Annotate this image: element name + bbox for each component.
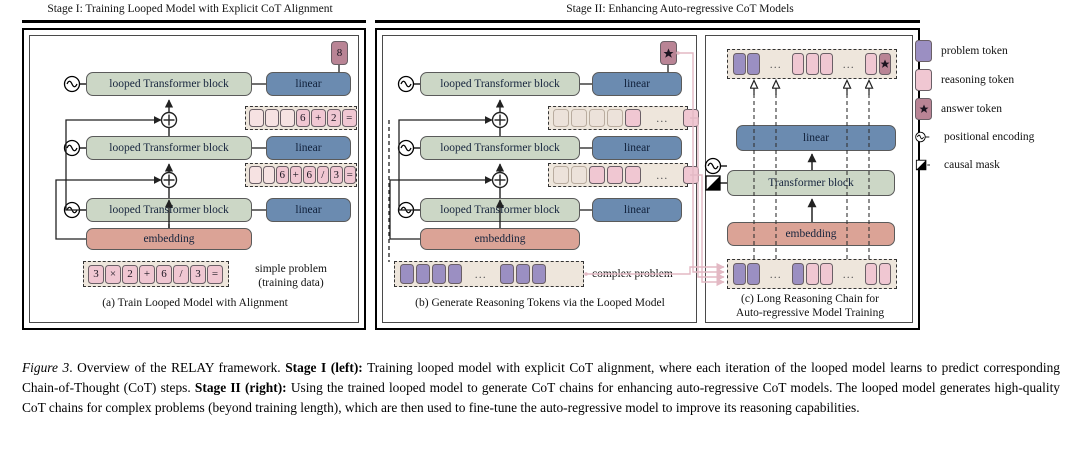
token-ellipsis: … (464, 264, 498, 284)
answer-token-icon (915, 98, 932, 120)
stage2-rule (375, 20, 920, 23)
panel-b-cot-row-mid: … (548, 163, 688, 187)
token-pale (249, 109, 264, 127)
panel-a-embedding: embedding (86, 228, 252, 250)
token-reasoning: + (139, 265, 155, 284)
legend-item-positional-encoding: positional encoding (915, 127, 1034, 147)
token-reasoning: 3 (190, 265, 206, 284)
panel-b-looped-block-2: looped Transformer block (420, 136, 580, 160)
token-reasoning (607, 166, 623, 184)
stage1-title: Stage I: Training Looped Model with Expl… (20, 3, 360, 15)
token-reasoning: 6 (276, 166, 289, 184)
panel-c-output-sequence: …… (727, 49, 897, 79)
token-reasoning (792, 53, 805, 75)
panel-c-input-sequence: …… (727, 259, 897, 289)
panel-a-answer-token: 8 (331, 41, 348, 65)
panel-a-input-label-line2: (training data) (258, 277, 323, 289)
panel-b-linear-3: linear (592, 72, 682, 96)
token-reasoning (683, 166, 699, 184)
panel-b-input-label: complex problem (592, 267, 702, 281)
panel-a-input-label: simple problem (training data) (236, 262, 346, 291)
token-reasoning (879, 263, 892, 285)
token-reasoning: = (342, 109, 357, 127)
legend-label-answer-token: answer token (941, 103, 1002, 115)
panel-a-linear-1: linear (266, 198, 351, 222)
token-reasoning (820, 263, 833, 285)
token-reasoning: 6 (303, 166, 316, 184)
token-pale (249, 166, 262, 184)
token-reasoning: = (207, 265, 223, 284)
panel-a-cot-row-mid: 6+6/3= (245, 163, 357, 187)
token-blank (553, 109, 569, 127)
token-problem (448, 264, 462, 284)
token-problem (747, 53, 760, 75)
caption-b1: Stage I (left): (285, 360, 363, 375)
token-answer (879, 53, 892, 75)
stage1-rule (22, 20, 366, 23)
panel-a-linear-2: linear (266, 136, 351, 160)
token-problem (532, 264, 546, 284)
token-reasoning: + (311, 109, 326, 127)
panel-c-caption-line2: Auto-regressive Model Training (736, 307, 884, 319)
token-reasoning: 3 (330, 166, 343, 184)
stage2-title: Stage II: Enhancing Auto-regressive CoT … (520, 3, 840, 15)
token-pale (265, 109, 280, 127)
panel-a-looped-block-1: looped Transformer block (86, 198, 252, 222)
legend-item-reasoning-token: reasoning token (915, 69, 1014, 91)
token-reasoning: 3 (88, 265, 104, 284)
panel-c-transformer-block: Transformer block (727, 170, 895, 196)
panel-b-caption: (b) Generate Reasoning Tokens via the Lo… (386, 296, 694, 310)
token-ellipsis: … (834, 263, 863, 285)
token-ellipsis: … (761, 53, 790, 75)
token-problem (733, 53, 746, 75)
legend-item-problem-token: problem token (915, 40, 1008, 62)
reasoning-token-icon (915, 69, 932, 91)
token-problem (432, 264, 446, 284)
panel-a-caption: (a) Train Looped Model with Alignment (40, 296, 350, 310)
token-pale (280, 109, 295, 127)
panel-b-looped-block-1: looped Transformer block (420, 198, 580, 222)
token-reasoning: / (317, 166, 330, 184)
token-reasoning (625, 166, 641, 184)
token-reasoning: + (290, 166, 303, 184)
token-ellipsis: … (643, 109, 681, 127)
token-blank (571, 166, 587, 184)
figure-root: Stage I: Training Looped Model with Expl… (0, 0, 1080, 473)
panel-a-cot-row-top: 6+2= (245, 106, 357, 130)
positional-encoding-icon (915, 127, 930, 147)
token-reasoning: 2 (327, 109, 342, 127)
panel-a-looped-block-2: looped Transformer block (86, 136, 252, 160)
token-problem (792, 263, 805, 285)
token-problem (400, 264, 414, 284)
figure-label: Figure 3 (22, 360, 69, 375)
panel-c-linear: linear (736, 125, 896, 151)
token-reasoning (806, 263, 819, 285)
problem-token-icon (915, 40, 932, 62)
caption-p1: . Overview of the RELAY framework. (69, 360, 285, 375)
panel-c-caption-line1: (c) Long Reasoning Chain for (741, 293, 879, 305)
token-ellipsis: … (761, 263, 790, 285)
token-problem (733, 263, 746, 285)
token-reasoning: = (344, 166, 357, 184)
token-reasoning: 6 (156, 265, 172, 284)
token-reasoning: × (105, 265, 121, 284)
star-icon (919, 104, 929, 114)
figure-caption: Figure 3. Overview of the RELAY framewor… (22, 358, 1060, 418)
panel-a-linear-3: linear (266, 72, 351, 96)
token-reasoning (589, 166, 605, 184)
token-reasoning: / (173, 265, 189, 284)
panel-b-answer-token (660, 41, 677, 65)
token-reasoning: 2 (122, 265, 138, 284)
panel-b-embedding: embedding (420, 228, 580, 250)
panel-c-embedding: embedding (727, 222, 895, 246)
panel-b-looped-block-3: looped Transformer block (420, 72, 580, 96)
causal-mask-icon (915, 155, 930, 175)
legend-label-positional-encoding: positional encoding (944, 131, 1034, 143)
token-blank (553, 166, 569, 184)
panel-a-input-sequence: 3×2+6/3= (83, 261, 229, 287)
panel-b-input-sequence: … (394, 261, 584, 287)
token-ellipsis: … (834, 53, 863, 75)
token-reasoning (625, 109, 641, 127)
panel-a-looped-block-3: looped Transformer block (86, 72, 252, 96)
token-reasoning (806, 53, 819, 75)
legend-label-causal-mask: causal mask (944, 159, 1000, 171)
token-blank (607, 109, 623, 127)
panel-b-linear-2: linear (592, 136, 682, 160)
token-problem (516, 264, 530, 284)
panel-a-input-label-line1: simple problem (255, 263, 327, 275)
legend-label-problem-token: problem token (941, 45, 1008, 57)
caption-b2: Stage II (right): (195, 380, 287, 395)
star-icon (663, 48, 674, 59)
panel-c-caption: (c) Long Reasoning Chain for Auto-regres… (712, 292, 908, 321)
token-blank (589, 109, 605, 127)
legend-item-answer-token: answer token (915, 98, 1002, 120)
legend-item-causal-mask: causal mask (915, 155, 1000, 175)
token-problem (416, 264, 430, 284)
token-blank (571, 109, 587, 127)
panel-b-linear-1: linear (592, 198, 682, 222)
legend-label-reasoning-token: reasoning token (941, 74, 1014, 86)
token-ellipsis: … (643, 166, 681, 184)
token-pale (263, 166, 276, 184)
token-reasoning: 6 (296, 109, 311, 127)
star-icon (880, 59, 890, 69)
token-problem (500, 264, 514, 284)
token-reasoning (865, 53, 878, 75)
token-problem (747, 263, 760, 285)
panel-b-cot-row-top: … (548, 106, 688, 130)
token-reasoning (820, 53, 833, 75)
legend: problem token reasoning token answer tok… (915, 36, 1075, 196)
token-reasoning (865, 263, 878, 285)
token-reasoning (683, 109, 699, 127)
